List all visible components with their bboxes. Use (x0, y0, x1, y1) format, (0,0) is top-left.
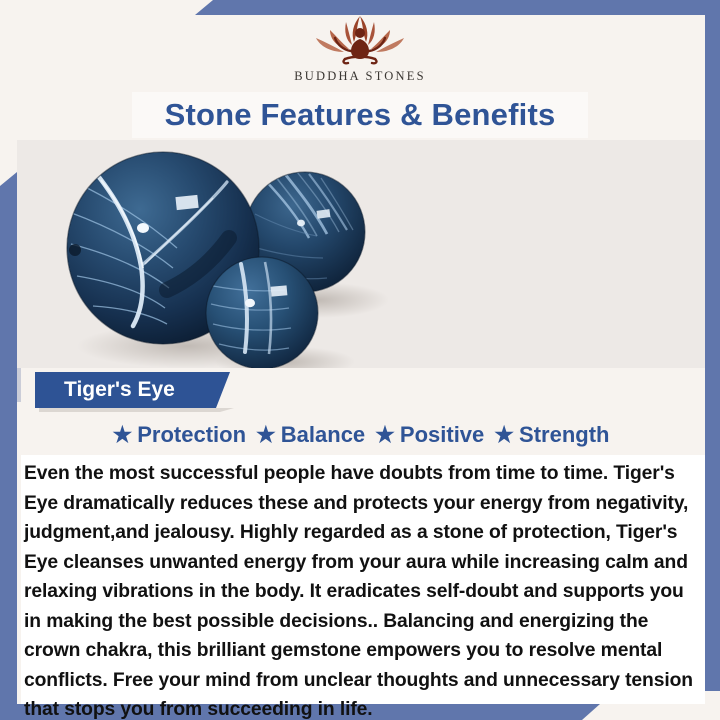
benefit-label: Balance (281, 422, 365, 448)
stone-name-ribbon-shadow (39, 408, 234, 412)
benefits-row: ★ Protection ★ Balance ★ Positive ★ Stre… (17, 418, 705, 452)
product-photo (17, 140, 705, 368)
title-banner: Stone Features & Benefits (132, 92, 588, 138)
description-block: Even the most successful people have dou… (21, 455, 705, 704)
star-icon: ★ (494, 424, 514, 446)
blue-tigers-eye-spheres-illustration (17, 140, 705, 368)
decor-bar-right (705, 15, 720, 691)
benefit-item: ★ Strength (494, 422, 609, 448)
benefit-item: ★ Positive (375, 422, 484, 448)
benefit-label: Protection (137, 422, 246, 448)
brand-logo: BUDDHA STONES (0, 12, 720, 90)
description-text: Even the most successful people have dou… (24, 459, 695, 720)
stone-name-ribbon: Tiger's Eye (35, 372, 230, 408)
page-title: Stone Features & Benefits (165, 97, 556, 133)
benefit-item: ★ Balance (256, 422, 365, 448)
star-icon: ★ (113, 424, 133, 446)
benefit-item: ★ Protection (113, 422, 247, 448)
lotus-meditation-figure-icon (300, 12, 420, 68)
star-icon: ★ (256, 424, 276, 446)
stone-name-label: Tiger's Eye (35, 378, 175, 402)
infographic-card: BUDDHA STONES Stone Features & Benefits (0, 0, 720, 720)
brand-name: BUDDHA STONES (294, 69, 426, 84)
star-icon: ★ (375, 424, 395, 446)
decor-bar-left (0, 172, 17, 708)
benefit-label: Positive (400, 422, 484, 448)
benefit-label: Strength (519, 422, 609, 448)
